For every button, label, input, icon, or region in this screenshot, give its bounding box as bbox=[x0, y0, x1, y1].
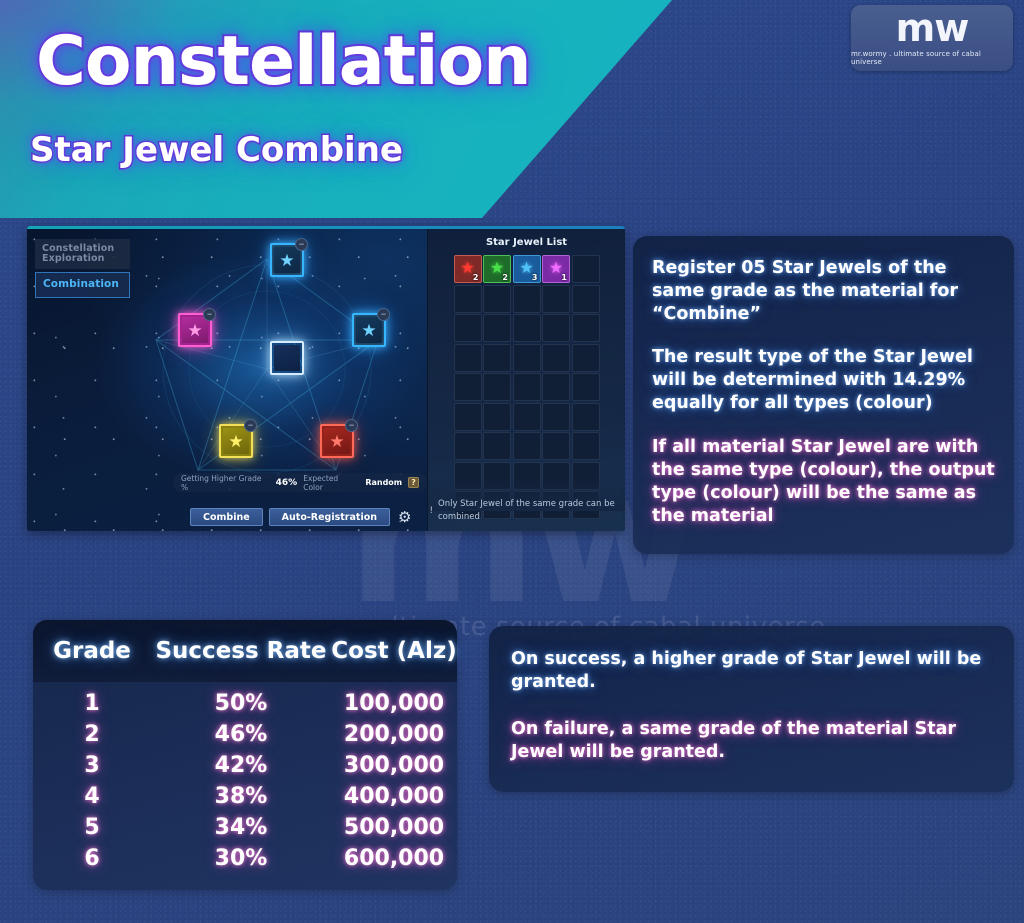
cell-grade: 2 bbox=[33, 722, 151, 747]
star-icon: ★ bbox=[228, 433, 243, 450]
jewel-slot-bottom-right[interactable]: ★ − bbox=[320, 424, 354, 458]
jewel-cell[interactable] bbox=[542, 403, 570, 431]
cell-grade: 6 bbox=[33, 846, 151, 871]
cell-cost: 100,000 bbox=[331, 691, 457, 716]
jewel-cell[interactable] bbox=[542, 373, 570, 401]
jewel-cell[interactable]: ★3 bbox=[513, 255, 541, 283]
logo-tagline: mr.wormy . ultimate source of cabal univ… bbox=[851, 50, 1013, 66]
jewel-cell[interactable] bbox=[542, 285, 570, 313]
jewel-slot-right[interactable]: ★ − bbox=[352, 313, 386, 347]
star-icon: ★ bbox=[279, 252, 294, 269]
info-paragraph: Register 05 Star Jewels of the same grad… bbox=[652, 257, 995, 326]
paragraph-list: Register 05 Star Jewels of the same grad… bbox=[633, 236, 1014, 528]
cell-grade: 5 bbox=[33, 815, 151, 840]
table-row: 630%600,000 bbox=[33, 843, 457, 874]
column-header-cost: Cost (Alz) bbox=[331, 638, 457, 664]
jewel-cell[interactable] bbox=[513, 285, 541, 313]
cell-success-rate: 42% bbox=[151, 753, 331, 778]
combine-infobar: Getting Higher Grade % 46% Expected Colo… bbox=[173, 473, 427, 492]
constellation-stage: Constellation Exploration Combination ★ … bbox=[27, 229, 427, 531]
success-rate-table: Grade Success Rate Cost (Alz) 150%100,00… bbox=[33, 620, 457, 890]
cell-success-rate: 30% bbox=[151, 846, 331, 871]
higher-grade-label: Getting Higher Grade % bbox=[181, 474, 270, 492]
column-header-grade: Grade bbox=[33, 638, 151, 664]
table-header-row: Grade Success Rate Cost (Alz) bbox=[33, 620, 457, 682]
jewel-cell[interactable]: ★1 bbox=[542, 255, 570, 283]
column-header-success-rate: Success Rate bbox=[151, 638, 331, 664]
jewel-cell[interactable]: ★2 bbox=[454, 255, 482, 283]
jewel-cell[interactable] bbox=[572, 403, 600, 431]
jewel-quantity: 3 bbox=[532, 273, 538, 282]
jewel-cell[interactable] bbox=[572, 255, 600, 283]
jewel-cell[interactable] bbox=[572, 462, 600, 490]
table-row: 534%500,000 bbox=[33, 812, 457, 843]
logo-mark-text: mw bbox=[896, 10, 969, 46]
jewel-slot-top[interactable]: ★ − bbox=[270, 243, 304, 277]
game-screenshot-panel: Constellation Exploration Combination ★ … bbox=[27, 226, 625, 531]
jewel-cell[interactable] bbox=[483, 373, 511, 401]
remove-jewel-icon[interactable]: − bbox=[345, 419, 358, 432]
jewel-cell[interactable] bbox=[513, 314, 541, 342]
jewel-cell[interactable] bbox=[483, 344, 511, 372]
jewel-cell[interactable] bbox=[454, 285, 482, 313]
star-icon: ★ bbox=[329, 433, 344, 450]
table-row: 246%200,000 bbox=[33, 719, 457, 750]
info-paragraph: On failure, a same grade of the material… bbox=[511, 718, 992, 764]
jewel-cell[interactable] bbox=[572, 344, 600, 372]
remove-jewel-icon[interactable]: − bbox=[377, 308, 390, 321]
jewel-cell[interactable] bbox=[542, 314, 570, 342]
jewel-cell[interactable] bbox=[513, 344, 541, 372]
jewel-cell[interactable] bbox=[454, 432, 482, 460]
tab-combination[interactable]: Combination bbox=[35, 272, 130, 298]
cell-grade: 1 bbox=[33, 691, 151, 716]
gear-icon[interactable]: ⚙ bbox=[398, 510, 411, 525]
cell-cost: 600,000 bbox=[331, 846, 457, 871]
jewel-cell[interactable] bbox=[483, 403, 511, 431]
jewel-cell[interactable] bbox=[542, 344, 570, 372]
star-jewel-list-panel: Star Jewel List ★2★2★3★1 ! Only Star Jew… bbox=[427, 229, 625, 531]
jewel-cell[interactable] bbox=[542, 462, 570, 490]
jewel-cell[interactable] bbox=[513, 403, 541, 431]
star-jewel-grid[interactable]: ★2★2★3★1 bbox=[454, 255, 600, 519]
table-body: 150%100,000246%200,000342%300,000438%400… bbox=[33, 688, 457, 874]
star-icon: ★ bbox=[187, 322, 202, 339]
higher-grade-value: 46% bbox=[276, 478, 298, 488]
star-icon: ★ bbox=[361, 322, 376, 339]
jewel-cell[interactable] bbox=[483, 462, 511, 490]
info-panel-combine-rules: Register 05 Star Jewels of the same grad… bbox=[633, 236, 1014, 554]
info-paragraph: The result type of the Star Jewel will b… bbox=[652, 346, 995, 415]
jewel-cell[interactable] bbox=[513, 432, 541, 460]
cell-success-rate: 38% bbox=[151, 784, 331, 809]
pentagram-decoration bbox=[137, 241, 397, 491]
expected-color-value: Random bbox=[365, 478, 402, 487]
jewel-slot-bottom-left[interactable]: ★ − bbox=[219, 424, 253, 458]
page-subtitle: Star Jewel Combine bbox=[30, 130, 403, 170]
table-row: 150%100,000 bbox=[33, 688, 457, 719]
jewel-cell[interactable] bbox=[572, 314, 600, 342]
brand-logo: mw mr.wormy . ultimate source of cabal u… bbox=[851, 5, 1013, 71]
combine-button[interactable]: Combine bbox=[190, 508, 263, 526]
jewel-quantity: 2 bbox=[502, 273, 508, 282]
star-jewel-list-title: Star Jewel List bbox=[428, 229, 625, 248]
jewel-cell[interactable] bbox=[572, 373, 600, 401]
jewel-cell[interactable] bbox=[454, 462, 482, 490]
jewel-cell[interactable] bbox=[572, 432, 600, 460]
help-icon[interactable]: ? bbox=[408, 477, 419, 488]
expected-color-label: Expected Color bbox=[303, 474, 359, 492]
jewel-cell[interactable] bbox=[542, 432, 570, 460]
cell-grade: 4 bbox=[33, 784, 151, 809]
jewel-quantity: 2 bbox=[473, 273, 479, 282]
combine-button-row: Combine Auto-Registration ⚙ bbox=[190, 508, 411, 526]
jewel-cell[interactable] bbox=[483, 432, 511, 460]
jewel-cell[interactable] bbox=[454, 403, 482, 431]
cell-cost: 300,000 bbox=[331, 753, 457, 778]
cell-grade: 3 bbox=[33, 753, 151, 778]
table-row: 342%300,000 bbox=[33, 750, 457, 781]
jewel-cell[interactable]: ★2 bbox=[483, 255, 511, 283]
star-jewel-list-note: Only Star Jewel of the same grade can be… bbox=[438, 498, 618, 523]
jewel-cell[interactable] bbox=[483, 314, 511, 342]
cell-success-rate: 46% bbox=[151, 722, 331, 747]
info-paragraph: On success, a higher grade of Star Jewel… bbox=[511, 648, 992, 694]
remove-jewel-icon[interactable]: − bbox=[295, 238, 308, 251]
cell-cost: 500,000 bbox=[331, 815, 457, 840]
panel-tabs: Constellation Exploration Combination bbox=[35, 239, 130, 298]
info-paragraph: If all material Star Jewel are with the … bbox=[652, 436, 995, 528]
jewel-cell[interactable] bbox=[513, 373, 541, 401]
info-panel-outcome-rules: On success, a higher grade of Star Jewel… bbox=[489, 626, 1014, 792]
jewel-cell[interactable] bbox=[454, 344, 482, 372]
jewel-cell[interactable] bbox=[454, 314, 482, 342]
jewel-cell[interactable] bbox=[513, 462, 541, 490]
cell-success-rate: 34% bbox=[151, 815, 331, 840]
table-row: 438%400,000 bbox=[33, 781, 457, 812]
jewel-cell[interactable] bbox=[454, 373, 482, 401]
cell-cost: 400,000 bbox=[331, 784, 457, 809]
cell-cost: 200,000 bbox=[331, 722, 457, 747]
warning-icon: ! bbox=[430, 505, 438, 515]
cell-success-rate: 50% bbox=[151, 691, 331, 716]
remove-jewel-icon[interactable]: − bbox=[203, 308, 216, 321]
jewel-quantity: 1 bbox=[561, 273, 567, 282]
tab-constellation-exploration[interactable]: Constellation Exploration bbox=[35, 239, 130, 269]
jewel-cell[interactable] bbox=[572, 285, 600, 313]
jewel-cell[interactable] bbox=[483, 285, 511, 313]
page-title: Constellation bbox=[36, 22, 531, 101]
paragraph-list: On success, a higher grade of Star Jewel… bbox=[489, 626, 1014, 764]
jewel-slot-result-center[interactable] bbox=[270, 341, 304, 375]
remove-jewel-icon[interactable]: − bbox=[244, 419, 257, 432]
jewel-slot-left[interactable]: ★ − bbox=[178, 313, 212, 347]
auto-registration-button[interactable]: Auto-Registration bbox=[269, 508, 390, 526]
